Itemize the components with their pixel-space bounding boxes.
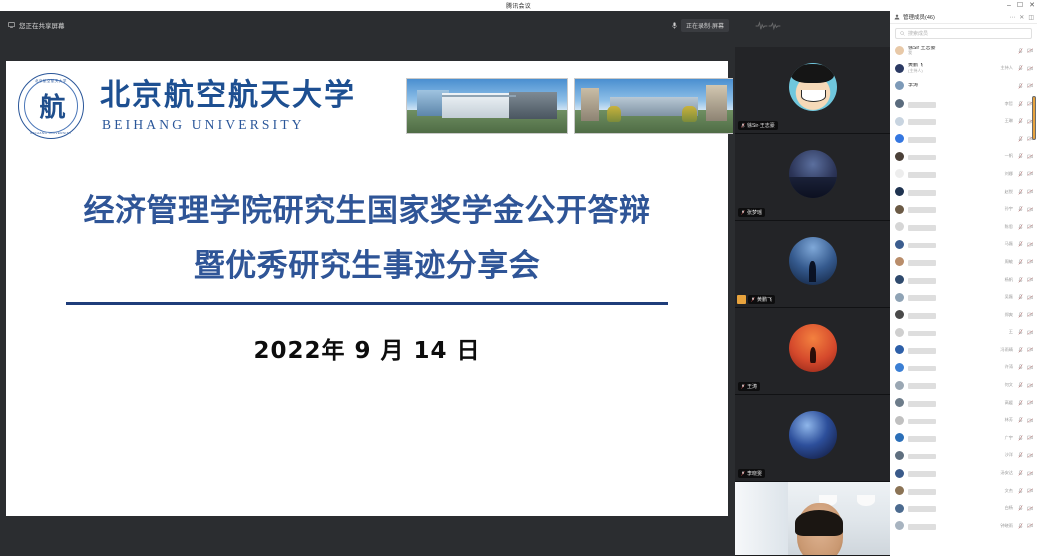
participant-meta	[908, 95, 1005, 113]
microphone-muted-icon[interactable]	[1018, 101, 1023, 107]
video-tile[interactable]: 张梦瑶	[735, 134, 890, 221]
video-tile[interactable]: 王涛	[735, 308, 890, 395]
participant-controls[interactable]	[1018, 65, 1033, 71]
window-title: 腾讯会议	[506, 1, 531, 10]
university-seal-icon: 北京航空航天大学 航 BEIHANG UNIVERSITY	[18, 73, 84, 139]
camera-off-icon[interactable]	[1027, 330, 1033, 335]
participant-name	[908, 225, 936, 231]
camera-off-icon[interactable]	[1027, 48, 1033, 53]
participant-name	[908, 524, 936, 530]
participant-controls[interactable]	[1018, 277, 1033, 283]
microphone-muted-icon[interactable]	[1018, 364, 1023, 370]
participant-meta	[908, 130, 1015, 148]
participant-row[interactable]: 钟晓雨	[890, 517, 1037, 535]
video-tile[interactable]: 黄鹏飞	[735, 221, 890, 308]
microphone-muted-icon[interactable]	[1018, 259, 1023, 265]
avatar	[895, 416, 904, 425]
participant-row[interactable]: 孙宇	[890, 200, 1037, 218]
university-name-cn: 北京航空航天大学	[100, 81, 356, 111]
participant-row[interactable]: 广宇	[890, 429, 1037, 447]
microphone-muted-icon[interactable]	[1018, 523, 1023, 529]
participant-meta	[908, 200, 1005, 218]
avatar	[895, 99, 904, 108]
minimize-icon[interactable]: –	[1007, 2, 1011, 9]
participant-row[interactable]: 郑爽	[890, 306, 1037, 324]
microphone-muted-icon	[741, 210, 745, 215]
participant-name	[908, 190, 936, 196]
microphone-muted-icon[interactable]	[1018, 417, 1023, 423]
avatar	[895, 328, 904, 337]
participant-row[interactable]: 王琳	[890, 112, 1037, 130]
avatar	[895, 81, 904, 90]
participant-controls[interactable]	[1018, 312, 1033, 318]
participant-controls[interactable]	[1018, 364, 1033, 370]
camera-off-icon[interactable]	[1027, 488, 1033, 493]
participant-row[interactable]: 冯雨晴	[890, 341, 1037, 359]
record-icon	[672, 22, 677, 29]
participant-row[interactable]: 周敏	[890, 253, 1037, 271]
avatar	[895, 469, 904, 478]
microphone-muted-icon[interactable]	[1018, 452, 1023, 458]
camera-off-icon[interactable]	[1027, 242, 1033, 247]
microphone-muted-icon	[741, 384, 745, 389]
participant-role-label: 文杰	[1005, 488, 1013, 494]
participant-name	[908, 155, 936, 161]
participant-meta	[908, 323, 1009, 341]
participant-name	[908, 436, 936, 442]
camera-off-icon[interactable]	[1027, 347, 1033, 352]
participant-row[interactable]: 何文	[890, 376, 1037, 394]
participant-role-label: 孙宇	[1005, 206, 1013, 212]
camera-off-icon[interactable]	[1027, 506, 1033, 511]
avatar	[895, 257, 904, 266]
participant-controls[interactable]	[1018, 224, 1033, 230]
participant-name	[908, 506, 936, 512]
participant-name	[908, 331, 936, 337]
window-controls: – ☐ ✕	[1007, 0, 1035, 11]
participant-name	[908, 260, 936, 266]
participant-role-label: 沙洋	[1005, 452, 1013, 458]
microphone-muted-icon[interactable]	[1018, 118, 1023, 124]
camera-off-icon[interactable]	[1027, 277, 1033, 282]
participant-name	[908, 102, 936, 108]
microphone-muted-icon[interactable]	[1018, 189, 1023, 195]
participant-controls[interactable]	[1018, 118, 1033, 124]
participant-name	[908, 454, 936, 460]
participant-controls[interactable]	[1018, 83, 1033, 89]
slide-title: 经济管理学院研究生国家奖学金公开答辩	[6, 196, 728, 227]
panel-actions: ⋯ ✕ ◫	[1009, 11, 1034, 24]
speaking-badge-icon	[737, 295, 746, 304]
avatar	[895, 187, 904, 196]
participant-row[interactable]	[890, 130, 1037, 148]
avatar	[895, 504, 904, 513]
tile-name: 王涛	[747, 383, 757, 390]
participant-role-label: 钟晓雨	[1000, 523, 1013, 529]
tile-name: 张梦瑶	[747, 209, 762, 216]
campus-photo-2	[574, 78, 733, 134]
microphone-muted-icon[interactable]	[1018, 224, 1023, 230]
participant-role-label: 王	[1009, 329, 1013, 335]
live-camera-feed	[735, 482, 890, 555]
avatar	[895, 433, 904, 442]
presentation-slide: 北京航空航天大学 航 BEIHANG UNIVERSITY 北京航空航天大学 B…	[6, 61, 728, 516]
participant-row[interactable]: 一帆	[890, 148, 1037, 166]
microphone-muted-icon[interactable]	[1018, 48, 1023, 54]
participant-controls[interactable]	[1018, 206, 1033, 212]
camera-off-icon[interactable]	[1027, 259, 1033, 264]
participant-role-label: 郑爽	[1005, 312, 1013, 318]
search-input[interactable]: 搜索成员	[895, 28, 1032, 39]
participant-meta	[908, 411, 1005, 429]
campus-photo-1	[406, 78, 568, 134]
camera-off-icon[interactable]	[1027, 418, 1033, 423]
microphone-muted-icon[interactable]	[1018, 65, 1023, 71]
microphone-muted-icon[interactable]	[1018, 505, 1023, 511]
participant-meta	[908, 288, 1005, 306]
participant-controls[interactable]	[1018, 347, 1033, 353]
participant-role-label: 周敏	[1005, 259, 1013, 265]
share-status-label: 您正在共享屏幕	[19, 20, 65, 30]
participant-meta: 徐Sir 王志豪我	[908, 46, 1015, 56]
microphone-muted-icon[interactable]	[1018, 171, 1023, 177]
avatar	[895, 451, 904, 460]
participant-role-label: 王琳	[1005, 118, 1013, 124]
participants-icon	[894, 14, 900, 20]
microphone-muted-icon	[741, 471, 745, 476]
shared-screen-stage: 北京航空航天大学 航 BEIHANG UNIVERSITY 北京航空航天大学 B…	[0, 47, 733, 556]
microphone-muted-icon[interactable]	[1018, 136, 1023, 142]
camera-off-icon[interactable]	[1027, 312, 1033, 317]
participant-name	[908, 471, 936, 477]
seal-arc-top: 北京航空航天大学	[18, 78, 84, 83]
avatar	[895, 345, 904, 354]
avatar	[895, 152, 904, 161]
slide-subtitle: 暨优秀研究生事迹分享会	[6, 251, 728, 282]
microphone-muted-icon	[741, 123, 745, 128]
participant-row[interactable]: 文杰	[890, 482, 1037, 500]
microphone-muted-icon[interactable]	[1018, 382, 1023, 388]
avatar	[895, 521, 904, 530]
participant-row[interactable]: 许涛	[890, 359, 1037, 377]
participant-row[interactable]: 马磊	[890, 236, 1037, 254]
participant-role-label: 吴磊	[1005, 294, 1013, 300]
galaxy-avatar	[789, 411, 837, 459]
camera-off-icon[interactable]	[1027, 383, 1033, 388]
slide-divider	[66, 302, 668, 305]
participant-row[interactable]: 王	[890, 324, 1037, 342]
dock-icon[interactable]: ◫	[1028, 15, 1034, 21]
blue-avatar	[789, 237, 837, 285]
participant-meta	[908, 165, 1005, 183]
tile-name: 徐Sir·王志豪	[747, 122, 775, 129]
microphone-muted-icon[interactable]	[1018, 470, 1023, 476]
avatar	[895, 169, 904, 178]
participant-controls[interactable]	[1018, 171, 1033, 177]
avatar	[895, 222, 904, 231]
recording-indicator[interactable]: 正在录制·屏幕	[672, 19, 729, 32]
video-tile-active-speaker[interactable]	[735, 482, 890, 555]
participant-meta	[908, 499, 1005, 517]
participant-controls[interactable]	[1018, 259, 1033, 265]
participant-row[interactable]: 林芳	[890, 411, 1037, 429]
share-status[interactable]: 您正在共享屏幕	[8, 20, 65, 30]
participant-row[interactable]: 徐Sir 王志豪我	[890, 42, 1037, 60]
slide-header: 北京航空航天大学 航 BEIHANG UNIVERSITY 北京航空航天大学 B…	[6, 61, 728, 149]
participant-role-label: 许涛	[1005, 364, 1013, 370]
participant-controls[interactable]	[1018, 329, 1033, 335]
camera-off-icon[interactable]	[1027, 171, 1033, 176]
avatar	[895, 117, 904, 126]
tile-name-tag: 李晓雯	[738, 469, 765, 478]
screen-share-icon	[8, 22, 15, 28]
luffy-avatar	[789, 63, 837, 111]
camera-off-icon[interactable]	[1027, 435, 1033, 440]
participant-row[interactable]: 李涛	[890, 77, 1037, 95]
video-tile[interactable]: 李晓雯	[735, 395, 890, 482]
participant-role-label: 杨帆	[1005, 277, 1013, 283]
microphone-muted-icon[interactable]	[1018, 329, 1023, 335]
tile-name: 李晓雯	[747, 470, 762, 477]
microphone-muted-icon[interactable]	[1018, 435, 1023, 441]
participant-role-label: 汤安达	[1000, 470, 1013, 476]
red-avatar	[789, 324, 837, 372]
camera-off-icon[interactable]	[1027, 295, 1033, 300]
participant-name: 李涛	[908, 83, 1015, 89]
microphone-muted-icon[interactable]	[1018, 294, 1023, 300]
participant-role-label: 广宇	[1005, 435, 1013, 441]
meeting-window: 腾讯会议 – ☐ ✕ 您正在共享屏幕 正在录制·屏幕	[0, 0, 1037, 556]
participant-controls[interactable]	[1018, 382, 1033, 388]
participant-role-label: 何文	[1005, 382, 1013, 388]
tile-name-tag: 王涛	[738, 382, 760, 391]
participant-name	[908, 419, 936, 425]
avatar	[895, 486, 904, 495]
panel-scrollbar[interactable]	[1032, 96, 1036, 140]
avatar	[895, 205, 904, 214]
avatar	[895, 275, 904, 284]
participant-controls[interactable]	[1018, 189, 1033, 195]
participant-controls[interactable]	[1018, 488, 1033, 494]
participant-sublabel: 我	[908, 51, 1015, 56]
participant-name	[908, 119, 936, 125]
participant-role-label: 一帆	[1005, 153, 1013, 159]
close-icon[interactable]: ✕	[1029, 2, 1035, 9]
tile-name-tag: 黄鹏飞	[748, 295, 775, 304]
participant-meta	[908, 464, 1000, 482]
participant-name	[908, 207, 936, 213]
participant-controls[interactable]	[1018, 101, 1033, 107]
participant-role-label: 林芳	[1005, 417, 1013, 423]
participant-controls[interactable]	[1018, 505, 1033, 511]
avatar	[895, 46, 904, 55]
participant-meta	[908, 253, 1005, 271]
participant-name	[908, 366, 936, 372]
participant-meta: 黄鹏飞(主持人)	[908, 63, 1000, 73]
participant-controls[interactable]	[1018, 470, 1033, 476]
participant-meta	[908, 376, 1005, 394]
participant-role-label: 陈思	[1005, 224, 1013, 230]
participants-panel-title: 管理成员(46)	[903, 13, 935, 21]
more-icon[interactable]: ⋯	[1009, 15, 1015, 21]
participant-controls[interactable]	[1018, 523, 1033, 529]
camera-off-icon[interactable]	[1027, 365, 1033, 370]
participant-meta	[908, 306, 1005, 324]
participant-sublabel: (主持人)	[908, 69, 1000, 74]
avatar	[895, 363, 904, 372]
participant-name	[908, 137, 936, 143]
participant-name	[908, 295, 936, 301]
university-name-en: BEIHANG UNIVERSITY	[102, 117, 305, 133]
participant-controls[interactable]	[1018, 452, 1033, 458]
participant-name	[908, 243, 936, 249]
microphone-muted-icon[interactable]	[1018, 153, 1023, 159]
participant-meta	[908, 147, 1005, 165]
participant-name	[908, 172, 936, 178]
participant-meta	[908, 271, 1005, 289]
participant-name	[908, 278, 936, 284]
microphone-muted-icon[interactable]	[1018, 277, 1023, 283]
participant-meta	[908, 341, 1000, 359]
audio-wave-icon	[755, 19, 781, 33]
microphone-muted-icon[interactable]	[1018, 206, 1023, 212]
search-placeholder: 搜索成员	[908, 30, 928, 37]
participant-controls[interactable]	[1018, 136, 1033, 142]
participant-role-label: 李哲	[1005, 101, 1013, 107]
participant-meta	[908, 394, 1005, 412]
participant-meta	[908, 112, 1005, 130]
participant-meta: 李涛	[908, 83, 1015, 89]
participant-meta	[908, 482, 1005, 500]
slide-date: 2022年 9 月 14 日	[6, 331, 728, 365]
camera-off-icon[interactable]	[1027, 400, 1033, 405]
participant-row[interactable]: 杨帆	[890, 271, 1037, 289]
camera-off-icon[interactable]	[1027, 189, 1033, 194]
participant-meta	[908, 358, 1005, 376]
video-tile-strip: 徐Sir·王志豪 张梦瑶 黄鹏飞	[735, 47, 890, 556]
microphone-muted-icon[interactable]	[1018, 241, 1023, 247]
participant-row[interactable]: 李哲	[890, 95, 1037, 113]
avatar	[895, 310, 904, 319]
participant-row[interactable]: 高媛	[890, 394, 1037, 412]
microphone-muted-icon[interactable]	[1018, 347, 1023, 353]
stage-letterbox	[0, 549, 733, 556]
participant-row[interactable]: 白杨	[890, 499, 1037, 517]
camera-off-icon[interactable]	[1027, 66, 1033, 71]
participant-controls[interactable]	[1018, 294, 1033, 300]
avatar	[895, 293, 904, 302]
close-icon[interactable]: ✕	[1019, 15, 1024, 21]
camera-off-icon[interactable]	[1027, 207, 1033, 212]
participant-meta	[908, 517, 1000, 535]
participants-panel-header: 管理成员(46) ⋯ ✕ ◫	[890, 11, 1037, 24]
microphone-muted-icon[interactable]	[1018, 312, 1023, 318]
participant-role-label: 马磊	[1005, 241, 1013, 247]
camera-off-icon[interactable]	[1027, 83, 1033, 88]
seal-glyph: 航	[39, 87, 62, 124]
participant-role-label: 高媛	[1005, 400, 1013, 406]
camera-off-icon[interactable]	[1027, 523, 1033, 528]
tile-name-tag: 徐Sir·王志豪	[738, 121, 778, 130]
participant-name	[908, 401, 936, 407]
participant-role-label: 刘娜	[1005, 171, 1013, 177]
window-titlebar: 腾讯会议 – ☐ ✕	[0, 0, 1037, 11]
participant-role-label: 冯雨晴	[1000, 347, 1013, 353]
participant-row[interactable]: 汤安达	[890, 464, 1037, 482]
participant-row[interactable]: 赵悦	[890, 183, 1037, 201]
seal-arc-bottom: BEIHANG UNIVERSITY	[18, 131, 84, 135]
participant-row[interactable]: 陈思	[890, 218, 1037, 236]
tile-name: 黄鹏飞	[757, 296, 772, 303]
participant-controls[interactable]	[1018, 153, 1033, 159]
search-icon	[900, 31, 905, 36]
microphone-muted-icon[interactable]	[1018, 83, 1023, 89]
participant-meta	[908, 446, 1005, 464]
participant-name	[908, 383, 936, 389]
camera-off-icon[interactable]	[1027, 471, 1033, 476]
microphone-muted-icon	[751, 297, 755, 302]
participant-meta	[908, 218, 1005, 236]
camera-off-icon[interactable]	[1027, 224, 1033, 229]
participants-panel: 管理成员(46) ⋯ ✕ ◫ 搜索成员 徐Sir 王志豪我黄鹏飞(主持人)主持人…	[890, 11, 1037, 556]
participant-controls[interactable]	[1018, 435, 1033, 441]
camera-off-icon[interactable]	[1027, 154, 1033, 159]
participant-meta	[908, 235, 1005, 253]
meeting-toolbar: 您正在共享屏幕 正在录制·屏幕	[0, 11, 890, 47]
night-avatar	[789, 150, 837, 198]
maximize-icon[interactable]: ☐	[1017, 2, 1023, 9]
participant-controls[interactable]	[1018, 400, 1033, 406]
participant-controls[interactable]	[1018, 241, 1033, 247]
recording-label: 正在录制·屏幕	[686, 21, 724, 30]
participant-name	[908, 313, 936, 319]
camera-off-icon[interactable]	[1027, 453, 1033, 458]
participant-role-label: 赵悦	[1005, 189, 1013, 195]
participant-role-label: 主持人	[1000, 65, 1013, 71]
participant-controls[interactable]	[1018, 48, 1033, 54]
participant-meta	[908, 183, 1005, 201]
video-tile[interactable]: 徐Sir·王志豪	[735, 47, 890, 134]
search-container: 搜索成员	[890, 24, 1037, 42]
participant-role-label: 白杨	[1005, 505, 1013, 511]
avatar	[895, 381, 904, 390]
participant-name	[908, 348, 936, 354]
participant-row[interactable]: 吴磊	[890, 288, 1037, 306]
microphone-muted-icon[interactable]	[1018, 400, 1023, 406]
avatar	[895, 240, 904, 249]
avatar	[895, 134, 904, 143]
avatar	[895, 64, 904, 73]
participant-name	[908, 489, 936, 495]
recording-chip[interactable]: 正在录制·屏幕	[681, 19, 729, 32]
participant-row[interactable]: 刘娜	[890, 165, 1037, 183]
microphone-muted-icon[interactable]	[1018, 488, 1023, 494]
participant-row[interactable]: 黄鹏飞(主持人)主持人	[890, 60, 1037, 78]
participant-row[interactable]: 沙洋	[890, 447, 1037, 465]
participant-list[interactable]: 徐Sir 王志豪我黄鹏飞(主持人)主持人李涛 李哲 王琳 一帆 刘娜 赵悦 孙宇…	[890, 42, 1037, 554]
avatar	[895, 398, 904, 407]
participant-meta	[908, 429, 1005, 447]
tile-name-tag: 张梦瑶	[738, 208, 765, 217]
participant-controls[interactable]	[1018, 417, 1033, 423]
